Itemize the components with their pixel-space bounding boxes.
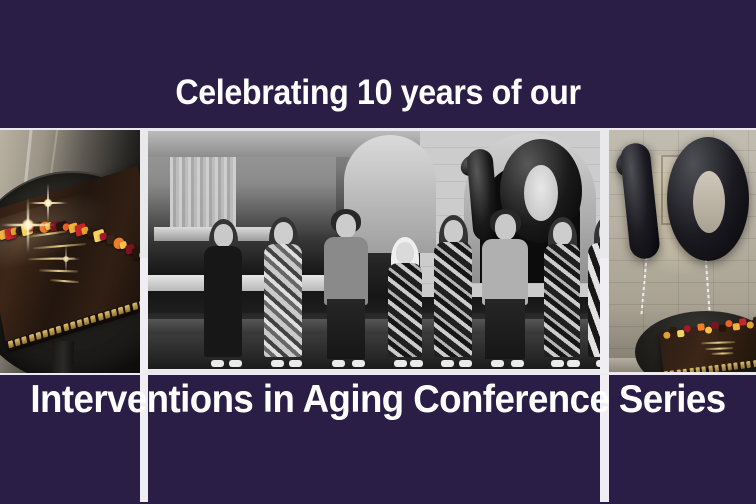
shoe — [211, 360, 224, 367]
series-title: Interventions in Aging Conference Series — [23, 378, 734, 422]
shoe — [289, 360, 302, 367]
sparkler-icon — [28, 183, 68, 223]
anniversary-banner: Celebrating 10 years of our — [0, 0, 756, 504]
photo-collage — [0, 129, 756, 373]
collage-bottom-divider — [0, 373, 756, 375]
trousers — [485, 299, 525, 359]
outfit — [324, 237, 368, 305]
person — [384, 237, 426, 367]
person — [320, 209, 372, 367]
face — [553, 222, 572, 245]
outfit — [482, 239, 528, 305]
person — [200, 219, 246, 367]
cake-script-text — [701, 338, 756, 356]
shoe — [511, 360, 524, 367]
trousers — [327, 299, 365, 359]
shoe — [394, 360, 407, 367]
face — [274, 222, 293, 245]
shoe — [491, 360, 504, 367]
shoe — [441, 360, 454, 367]
shoe — [332, 360, 345, 367]
person — [584, 215, 600, 367]
shoe — [551, 360, 564, 367]
sparkler-icon — [52, 245, 81, 274]
person — [478, 209, 532, 367]
bw-photo-layer — [148, 131, 600, 369]
outfit — [204, 246, 242, 357]
person — [430, 215, 476, 367]
table-leg — [52, 341, 74, 373]
shoe — [271, 360, 284, 367]
outfit — [544, 244, 580, 357]
outfit — [434, 242, 472, 357]
page-title: Celebrating 10 years of our — [30, 73, 726, 113]
shoe — [229, 360, 242, 367]
shoe — [567, 360, 580, 367]
face — [336, 214, 356, 238]
cake-icon — [659, 319, 756, 372]
shoe — [352, 360, 365, 367]
photo-ten-balloons-over-cake — [609, 129, 756, 372]
face — [444, 220, 463, 243]
outfit — [264, 244, 302, 357]
outfit — [588, 243, 600, 357]
collage-top-divider — [0, 128, 756, 130]
person — [260, 217, 306, 367]
face — [396, 242, 414, 264]
photo-anniversary-cake-with-sparklers — [0, 129, 140, 373]
outfit — [388, 263, 422, 357]
shoe — [410, 360, 423, 367]
photo-group-photo-with-10-balloons — [148, 131, 600, 369]
person — [540, 217, 584, 367]
balloon-zero-hole — [693, 171, 725, 233]
face — [214, 224, 233, 247]
shoe — [459, 360, 472, 367]
face — [495, 214, 516, 240]
